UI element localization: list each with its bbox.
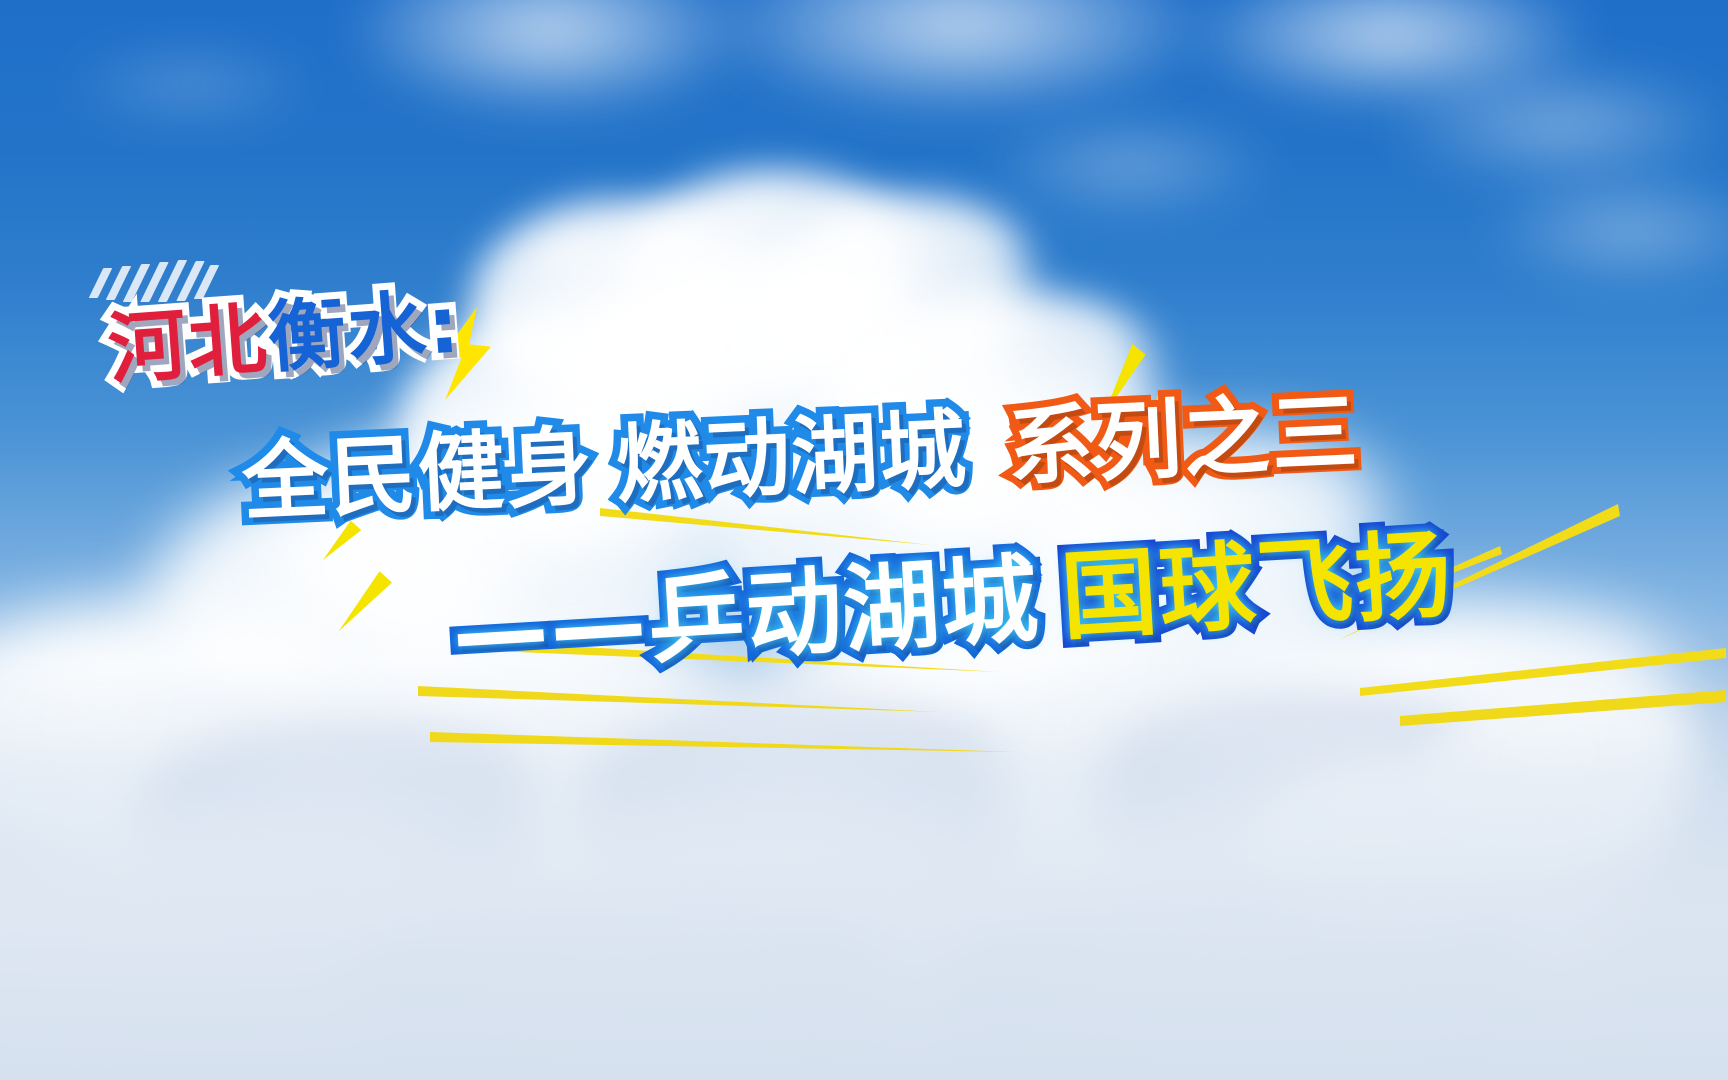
title-card-scene: 河北衡水: 全民健身燃动湖城系列之三 ——乒动湖城国球飞扬: [0, 0, 1728, 1080]
yellow-speed-rays: [0, 0, 1728, 1080]
